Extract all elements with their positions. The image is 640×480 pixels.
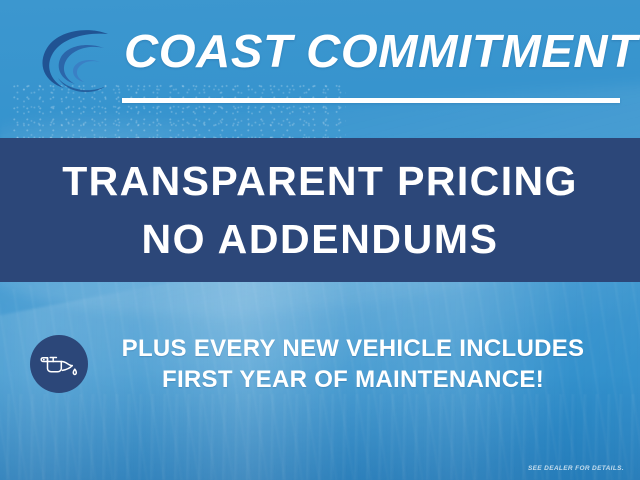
offer-row: PLUS EVERY NEW VEHICLE INCLUDES FIRST YE… [0,326,640,402]
disclaimer-text: SEE DEALER FOR DETAILS. [528,465,624,472]
page-title: COAST COMMITMENT [124,22,639,80]
banner-header: COAST COMMITMENT [0,0,640,112]
coast-wave-logo-icon [34,24,118,96]
oil-can-icon [30,335,88,393]
offer-line-2: FIRST YEAR OF MAINTENANCE! [88,364,618,395]
headline-band: TRANSPARENT PRICING NO ADDENDUMS [0,138,640,282]
offer-text-block: PLUS EVERY NEW VEHICLE INCLUDES FIRST YE… [88,333,640,395]
headline-line-1: TRANSPARENT PRICING [62,152,578,210]
coast-commitment-banner: COAST COMMITMENT TRANSPARENT PRICING NO … [0,0,640,480]
offer-line-1: PLUS EVERY NEW VEHICLE INCLUDES [88,333,618,364]
header-divider [122,98,620,103]
headline-line-2: NO ADDENDUMS [141,210,498,268]
